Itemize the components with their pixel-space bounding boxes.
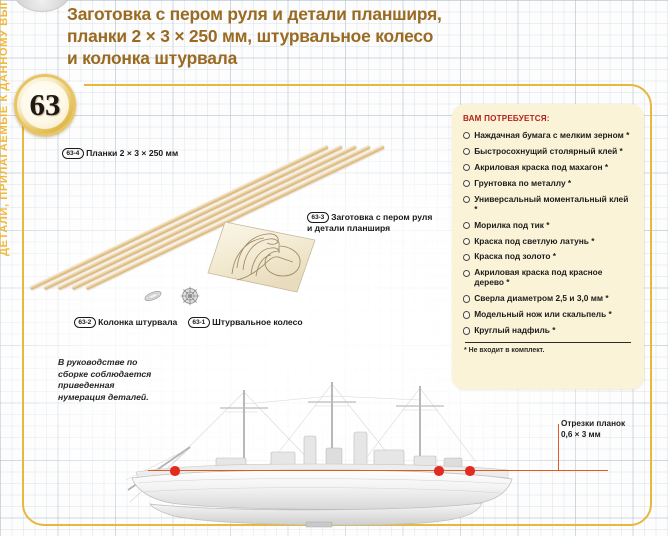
- ship-annotation-line-2: 0,6 × 3 мм: [561, 430, 625, 441]
- page-title-line-2: планки 2 × 3 × 250 мм, штурвальное колес…: [67, 25, 655, 47]
- materials-divider: [465, 342, 631, 343]
- annotation-leader-line: [558, 424, 559, 471]
- ship-model-photo: [108, 352, 528, 528]
- material-item[interactable]: Грунтовка по металлу *: [463, 179, 633, 189]
- material-item[interactable]: Модельный нож или скальпель *: [463, 310, 633, 320]
- plywood-parts-sheet: [207, 218, 317, 296]
- checkbox-circle-icon[interactable]: [463, 196, 470, 203]
- material-label: Универсальный моментальный клей *: [474, 195, 633, 214]
- material-item[interactable]: Быстросохнущий столярный клей *: [463, 147, 633, 157]
- part-number-badge: 63-4: [62, 148, 84, 159]
- material-item[interactable]: Акриловая краска под махагон *: [463, 163, 633, 173]
- checkbox-circle-icon[interactable]: [463, 180, 470, 187]
- material-label: Морилка под тик *: [474, 221, 549, 231]
- part-label: Штурвальное колесо: [212, 317, 303, 327]
- page-title-line-1: Заготовка с пером руля и детали планширя…: [67, 3, 655, 25]
- reference-line: [148, 470, 608, 471]
- material-label: Быстросохнущий столярный клей *: [474, 147, 623, 157]
- material-label: Сверла диаметром 2,5 и 3,0 мм *: [474, 294, 608, 304]
- checkbox-circle-icon[interactable]: [463, 327, 470, 334]
- part-callout-63-1: 63-1Штурвальное колесо: [188, 317, 303, 328]
- hull-marker-dot: [434, 466, 444, 476]
- part-label: Колонка штурвала: [98, 317, 177, 327]
- material-item[interactable]: Наждачная бумага с мелким зерном *: [463, 131, 633, 141]
- steering-wheel-part: [181, 287, 200, 306]
- part-callout-63-4: 63-4Планки 2 × 3 × 250 мм: [62, 148, 178, 159]
- page-title: Заготовка с пером руля и детали планширя…: [67, 3, 655, 70]
- material-label: Наждачная бумага с мелким зерном *: [474, 131, 629, 141]
- checkbox-circle-icon[interactable]: [463, 164, 470, 171]
- checkbox-circle-icon[interactable]: [463, 148, 470, 155]
- material-label: Акриловая краска под красное дерево *: [474, 268, 633, 287]
- hull-marker-dot: [465, 466, 475, 476]
- material-item[interactable]: Акриловая краска под красное дерево *: [463, 268, 633, 287]
- metal-parts-illustration: [142, 283, 222, 313]
- materials-panel: ВАМ ПОТРЕБУЕТСЯ: Наждачная бумага с мелк…: [452, 104, 644, 389]
- sidebar-vertical-label: ДЕТАЛИ, ПРИЛАГАЕМЫЕ К ДАННОМУ ВЫПУСКУ: [0, 0, 10, 256]
- material-label: Краска под золото *: [474, 252, 556, 262]
- material-label: Акриловая краска под махагон *: [474, 163, 608, 173]
- material-item[interactable]: Краска под светлую латунь *: [463, 237, 633, 247]
- checkbox-circle-icon[interactable]: [463, 295, 470, 302]
- checkbox-circle-icon[interactable]: [463, 311, 470, 318]
- checkbox-circle-icon[interactable]: [463, 132, 470, 139]
- part-number-badge: 63-2: [74, 317, 96, 328]
- part-number-badge: 63-1: [188, 317, 210, 328]
- part-number-badge: 63-3: [307, 212, 329, 223]
- material-item[interactable]: Морилка под тик *: [463, 221, 633, 231]
- part-callout-63-2: 63-2Колонка штурвала: [74, 317, 177, 328]
- checkbox-circle-icon[interactable]: [463, 270, 470, 277]
- materials-panel-title: ВАМ ПОТРЕБУЕТСЯ:: [463, 114, 633, 123]
- checkbox-circle-icon[interactable]: [463, 222, 470, 229]
- wooden-strips-illustration: [28, 118, 373, 293]
- page-title-line-3: и колонка штурвала: [67, 47, 655, 69]
- material-item[interactable]: Круглый надфиль *: [463, 326, 633, 336]
- ship-annotation-line-1: Отрезки планок: [561, 419, 625, 430]
- checkbox-circle-icon[interactable]: [463, 238, 470, 245]
- material-item[interactable]: Сверла диаметром 2,5 и 3,0 мм *: [463, 294, 633, 304]
- material-label: Модельный нож или скальпель *: [474, 310, 612, 320]
- ship-annotation: Отрезки планок 0,6 × 3 мм: [561, 419, 625, 440]
- part-label: Планки 2 × 3 × 250 мм: [86, 148, 178, 158]
- material-label: Краска под светлую латунь *: [474, 237, 594, 247]
- material-label: Круглый надфиль *: [474, 326, 555, 336]
- material-item[interactable]: Универсальный моментальный клей *: [463, 195, 633, 214]
- part-callout-63-3: 63-3Заготовка с пером руля и детали план…: [307, 212, 437, 234]
- material-label: Грунтовка по металлу *: [474, 179, 571, 189]
- material-item[interactable]: Краска под золото *: [463, 252, 633, 262]
- steering-column-part: [144, 289, 162, 302]
- hull-marker-dot: [170, 466, 180, 476]
- checkbox-circle-icon[interactable]: [463, 254, 470, 261]
